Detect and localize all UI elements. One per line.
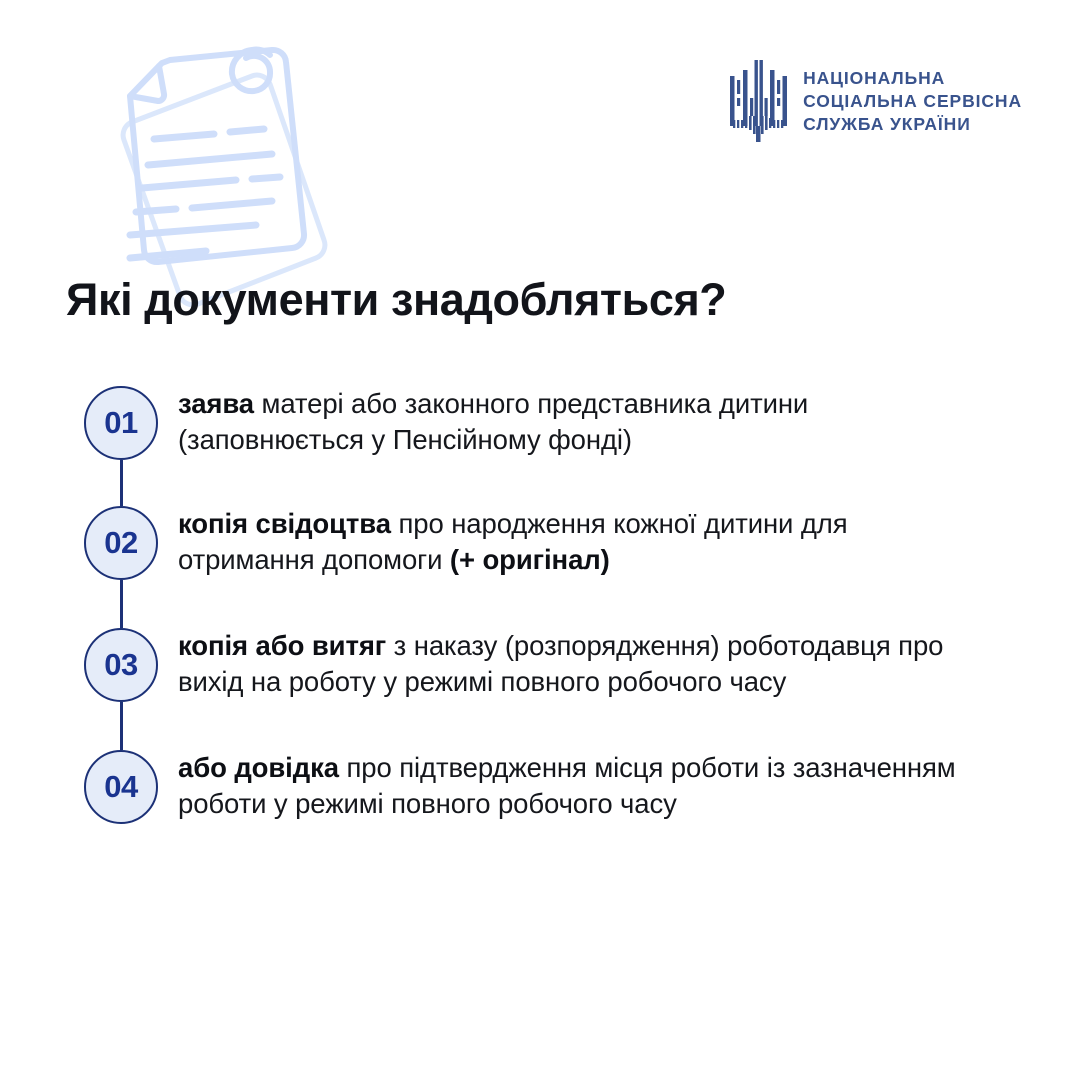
step-number-badge-02: 02 <box>84 506 158 580</box>
step-number-badge-04: 04 <box>84 750 158 824</box>
step-text: копія або витяг з наказу (розпорядження)… <box>178 628 1080 700</box>
list-item: 01заява матері або законного представник… <box>0 386 1080 460</box>
step-text-emphasis: або довідка <box>178 752 339 783</box>
step-text-emphasis-tail: (+ оригінал) <box>450 544 610 575</box>
step-text: заява матері або законного представника … <box>178 386 1080 458</box>
step-connector-line <box>120 580 123 628</box>
step-text-emphasis: копія свідоцтва <box>178 508 391 539</box>
step-text-emphasis: заява <box>178 388 254 419</box>
step-badge-column: 02 <box>0 506 180 580</box>
documents-list: 01заява матері або законного представник… <box>0 386 1080 890</box>
page-title: Які документи знадобляться? <box>66 276 726 323</box>
step-badge-column: 01 <box>0 386 180 460</box>
list-item: 02копія свідоцтва про народження кожної … <box>0 506 1080 580</box>
organization-logo: НАЦІОНАЛЬНА СОЦІАЛЬНА СЕРВІСНА СЛУЖБА УК… <box>727 58 1022 144</box>
step-badge-column: 04 <box>0 750 180 824</box>
step-text-emphasis: копія або витяг <box>178 630 386 661</box>
step-badge-column: 03 <box>0 628 180 702</box>
decorative-document-illustration <box>96 22 336 312</box>
trident-bars-icon <box>727 58 789 144</box>
list-item: 04або довідка про підтвердження місця ро… <box>0 750 1080 824</box>
list-item: 03копія або витяг з наказу (розпорядженн… <box>0 628 1080 702</box>
logo-line-3: СЛУЖБА УКРАЇНИ <box>803 114 1022 134</box>
logo-wordmark: НАЦІОНАЛЬНА СОЦІАЛЬНА СЕРВІСНА СЛУЖБА УК… <box>803 68 1022 135</box>
step-text: або довідка про підтвердження місця робо… <box>178 750 1080 822</box>
logo-line-2: СОЦІАЛЬНА СЕРВІСНА <box>803 91 1022 111</box>
clipboard-document-paperclip-icon <box>96 22 336 312</box>
logo-line-1: НАЦІОНАЛЬНА <box>803 68 1022 88</box>
step-text: копія свідоцтва про народження кожної ди… <box>178 506 1080 578</box>
step-number-badge-01: 01 <box>84 386 158 460</box>
step-number-badge-03: 03 <box>84 628 158 702</box>
step-connector-line <box>120 460 123 506</box>
step-connector-line <box>120 702 123 750</box>
